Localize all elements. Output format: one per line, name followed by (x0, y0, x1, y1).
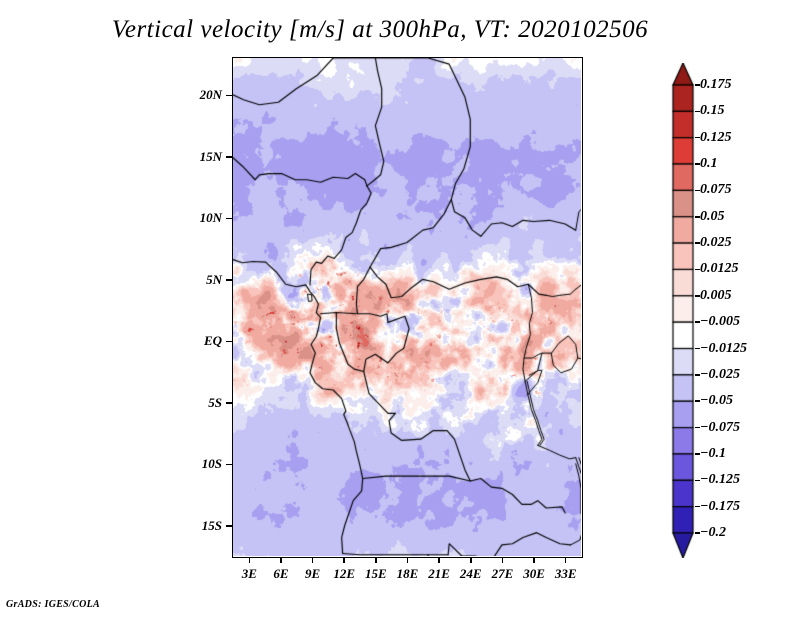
longitude-label-3e: 3E (242, 566, 257, 582)
colorbar-label: −0.025 (700, 367, 740, 383)
colorbar-label: −0.2 (700, 525, 726, 541)
grads-plot-page: Vertical velocity [m/s] at 300hPa, VT: 2… (0, 0, 800, 618)
page-title: Vertical velocity [m/s] at 300hPa, VT: 2… (0, 16, 760, 44)
longitude-tick (533, 557, 535, 563)
latitude-label-15n: 15N (170, 149, 222, 165)
longitude-tick (407, 557, 409, 563)
colorbar-label: 0.1 (700, 156, 718, 172)
longitude-label-33e: 33E (555, 566, 577, 582)
latitude-tick (226, 218, 232, 220)
colorbar-label: 0.075 (700, 182, 732, 198)
longitude-label-6e: 6E (273, 566, 288, 582)
longitude-label-12e: 12E (333, 566, 355, 582)
colorbar-label: −0.175 (700, 499, 740, 515)
longitude-label-18e: 18E (397, 566, 419, 582)
longitude-label-24e: 24E (460, 566, 482, 582)
colorbar-label: 0.0125 (700, 261, 739, 277)
colorbar-label: −0.05 (700, 393, 733, 409)
latitude-label-20n: 20N (170, 87, 222, 103)
latitude-label-eq: EQ (170, 333, 222, 349)
colorbar-label: 0.05 (700, 209, 725, 225)
latitude-label-15s: 15S (170, 518, 222, 534)
longitude-tick (375, 557, 377, 563)
colorbar-label: −0.005 (700, 314, 740, 330)
latitude-tick (226, 156, 232, 158)
longitude-label-9e: 9E (305, 566, 320, 582)
colorbar-label: −0.075 (700, 420, 740, 436)
colorbar-label: 0.025 (700, 235, 732, 251)
colorbar-label: 0.005 (700, 288, 732, 304)
latitude-tick (226, 525, 232, 527)
map-plot-area (232, 57, 583, 558)
latitude-tick (226, 402, 232, 404)
longitude-label-27e: 27E (492, 566, 514, 582)
longitude-label-21e: 21E (428, 566, 450, 582)
colorbar-label: −0.1 (700, 446, 726, 462)
longitude-tick (312, 557, 314, 563)
latitude-tick (226, 464, 232, 466)
colorbar-swatches (671, 63, 695, 558)
colorbar-label: −0.0125 (700, 341, 747, 357)
latitude-tick (226, 279, 232, 281)
colorbar-label: 0.175 (700, 77, 732, 93)
longitude-tick (470, 557, 472, 563)
longitude-label-30e: 30E (523, 566, 545, 582)
colorbar-label: −0.125 (700, 472, 740, 488)
latitude-tick (226, 95, 232, 97)
latitude-label-10n: 10N (170, 210, 222, 226)
colorbar-label: 0.125 (700, 130, 732, 146)
longitude-tick (343, 557, 345, 563)
longitude-tick (565, 557, 567, 563)
latitude-label-5s: 5S (170, 395, 222, 411)
longitude-tick (280, 557, 282, 563)
latitude-tick (226, 341, 232, 343)
latitude-label-10s: 10S (170, 456, 222, 472)
colorbar (671, 63, 695, 558)
latitude-label-5n: 5N (170, 272, 222, 288)
country-borders-overlay (233, 58, 581, 556)
longitude-tick (438, 557, 440, 563)
colorbar-label: 0.15 (700, 103, 725, 119)
longitude-label-15e: 15E (365, 566, 387, 582)
longitude-tick (249, 557, 251, 563)
longitude-tick (502, 557, 504, 563)
grads-attribution: GrADS: IGES/COLA (6, 599, 100, 610)
